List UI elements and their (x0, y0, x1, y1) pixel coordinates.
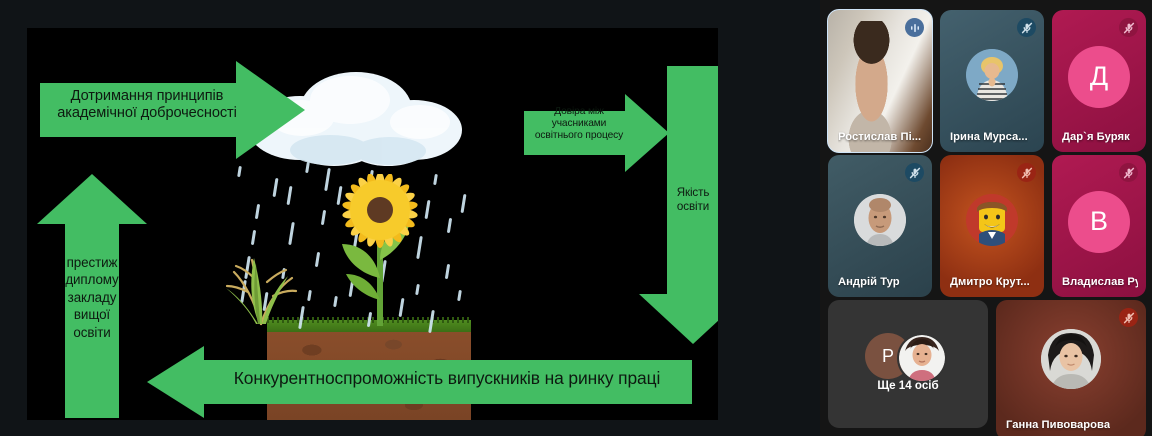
rain-drop (461, 194, 467, 213)
rain-drop (445, 264, 450, 279)
arrow-head (639, 294, 718, 344)
participant-tile-hanna[interactable]: Ганна Пивоварова (996, 300, 1146, 436)
participant-tile-dmytro[interactable]: Дмитро Крут... (940, 155, 1044, 297)
avatar (966, 49, 1018, 101)
avatar (966, 194, 1018, 246)
arrow-education-quality: Якість освіти (639, 66, 718, 344)
rain-drop (237, 166, 242, 177)
arrow-academic-integrity: Дотримання принципів академічної доброче… (40, 61, 305, 159)
mic-muted-icon (1017, 163, 1036, 182)
rain-drop (447, 218, 452, 233)
avatar-initial: В (1068, 191, 1130, 253)
participant-name: Дар`я Буряк (1062, 131, 1130, 143)
arrow-graduate-competitiveness: Конкурентноспроможність випускників на р… (147, 346, 692, 418)
more-participants-tile[interactable]: Р Ще 14 осіб (828, 300, 988, 428)
participant-name: Ростислав Пі... (838, 131, 921, 143)
participant-tile-rostyslav[interactable]: Ростислав Пі... (828, 10, 932, 152)
arrow-label-diploma-prestige: престиж диплому закладу вищої освіти (57, 254, 127, 341)
arrow-label-education-quality: Якість освіти (663, 186, 718, 213)
sunflower-icon (328, 174, 436, 330)
mic-muted-icon (1119, 308, 1138, 327)
arrow-body (667, 66, 718, 298)
rain-drop (457, 290, 462, 301)
participant-name: Андрій Тур (838, 276, 900, 288)
arrow-head (37, 174, 147, 224)
rain-drop (255, 204, 260, 219)
arrow-label-academic-integrity: Дотримання принципів академічної доброче… (48, 88, 246, 122)
arrow-label-trust: Довіра між учасниками освітнього процесу (528, 106, 630, 142)
participant-tile-vladyslav[interactable]: В Владислав Ру... (1052, 155, 1146, 297)
participant-name: Дмитро Крут... (950, 276, 1030, 288)
audio-wave-icon (905, 18, 924, 37)
more-participants-label: Ще 14 осіб (828, 379, 988, 392)
rain-drop (305, 162, 310, 173)
mic-muted-icon (905, 163, 924, 182)
rain-drop (307, 290, 312, 301)
video-conference-window: Дотримання принципів академічної доброче… (0, 0, 1152, 436)
shared-screen-area[interactable]: Дотримання принципів академічної доброче… (0, 0, 820, 436)
arrow-diploma-prestige: престиж диплому закладу вищої освіти (35, 174, 167, 418)
participant-grid: Ростислав Пі... (828, 10, 1146, 430)
avatar-initial: Д (1068, 46, 1130, 108)
arrow-head (236, 61, 305, 159)
avatar (854, 194, 906, 246)
rain-drop (273, 178, 279, 197)
avatar (1041, 329, 1101, 389)
mic-muted-icon (1017, 18, 1036, 37)
participant-name: Ірина Мурса... (950, 131, 1028, 143)
participant-tile-andriy[interactable]: Андрій Тур (828, 155, 932, 297)
rain-drop (321, 210, 326, 225)
mic-muted-icon (1119, 18, 1138, 37)
participant-name: Владислав Ру... (1062, 276, 1138, 288)
stacked-avatars: Р (865, 333, 951, 379)
rain-drop (315, 252, 320, 267)
withering-plant-icon (218, 238, 304, 326)
avatar (897, 333, 947, 383)
rain-drop (287, 186, 293, 205)
participant-tile-daria[interactable]: Д Дар`я Буряк (1052, 10, 1146, 152)
participant-name: Ганна Пивоварова (1006, 419, 1110, 431)
presentation-slide: Дотримання принципів академічної доброче… (27, 28, 718, 420)
mic-muted-icon (1119, 163, 1138, 182)
arrow-label-competitiveness: Конкурентноспроможність випускників на р… (207, 368, 687, 389)
participant-tile-iryna[interactable]: Ірина Мурса... (940, 10, 1044, 152)
